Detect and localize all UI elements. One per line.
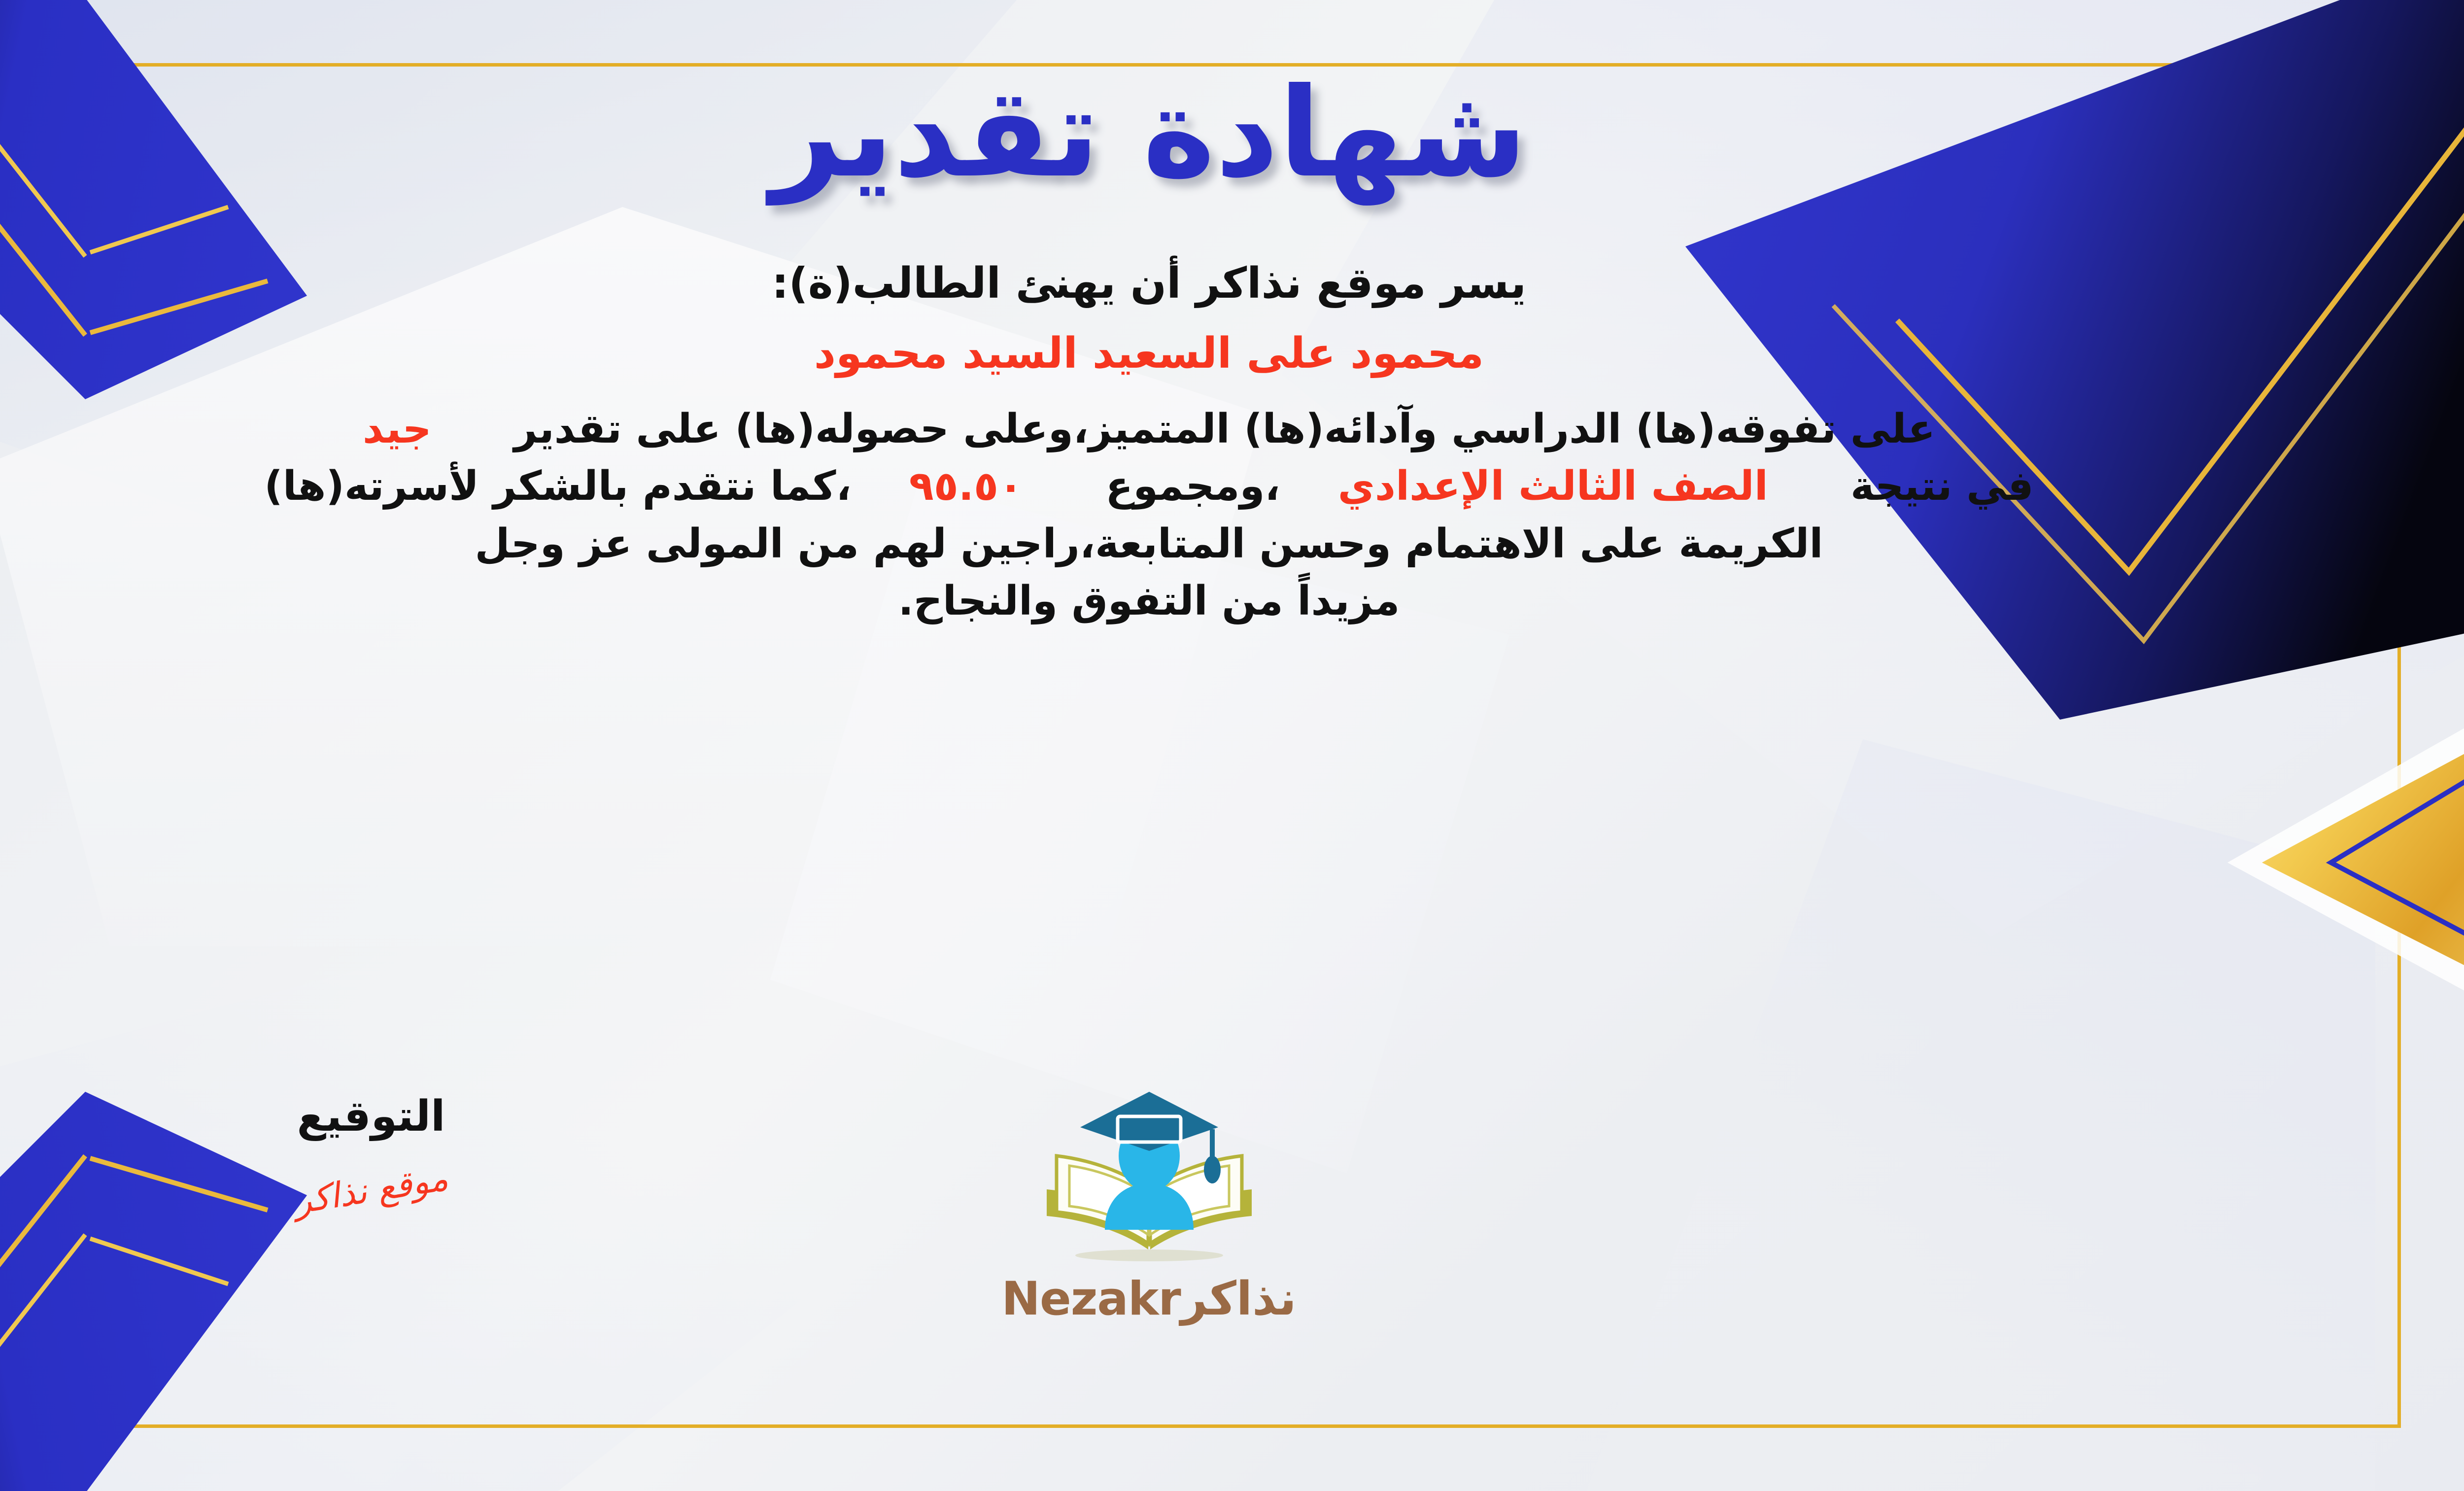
citation-line-4: مزيداً من التفوق والنجاح.	[0, 573, 2357, 630]
certificate-title: شهادة تقدير	[771, 59, 1527, 207]
citation-line-1-text: على تفوقه(ها) الدراسي وآدائه(ها) المتميز…	[514, 406, 1935, 452]
citation-line-2: في نتيجة الصف الثالث الإعدادي ،ومجموع ٩٥…	[0, 458, 2357, 515]
citation-body: على تفوقه(ها) الدراسي وآدائه(ها) المتميز…	[0, 401, 2357, 630]
grade-value: جيد	[363, 406, 432, 452]
citation-line-3: الكريمة على الاهتمام وحسن المتابعة،راجين…	[0, 516, 2357, 573]
intro-line: يسر موقع نذاكر أن يهنئ الطالب(ة):	[772, 259, 1526, 308]
certificate-footer: التوقيع موقع نذاكر	[0, 1092, 2464, 1397]
total-score-value: ٩٥.٥٠	[909, 463, 1023, 510]
certificate-page: شهادة تقدير يسر موقع نذاكر أن يهنئ الطال…	[0, 0, 2464, 1491]
logo-wordmark: نذاكرNezakr	[962, 1272, 1336, 1326]
signature-value: موقع نذاكر	[217, 1146, 525, 1234]
total-prefix: ،ومجموع	[1105, 463, 1280, 510]
logo-wordmark-latin: Nezakr	[1001, 1272, 1180, 1326]
citation-line-1: على تفوقه(ها) الدراسي وآدائه(ها) المتميز…	[0, 401, 2357, 458]
brand-logo: نذاكرNezakr	[962, 1087, 1336, 1326]
thanks-suffix: ،كما نتقدم بالشكر لأسرته(ها)	[264, 463, 851, 510]
class-name-value: الصف الثالث الإعدادي	[1338, 463, 1768, 510]
logo-wordmark-arabic: نذاكر	[1181, 1272, 1297, 1326]
signature-label: التوقيع	[218, 1092, 524, 1141]
graduate-book-icon	[1021, 1087, 1277, 1274]
signature-block: التوقيع موقع نذاكر	[218, 1092, 524, 1210]
student-name: محمود على السعيد السيد محمود	[814, 329, 1484, 378]
result-prefix: في نتيجة	[1850, 463, 2034, 510]
